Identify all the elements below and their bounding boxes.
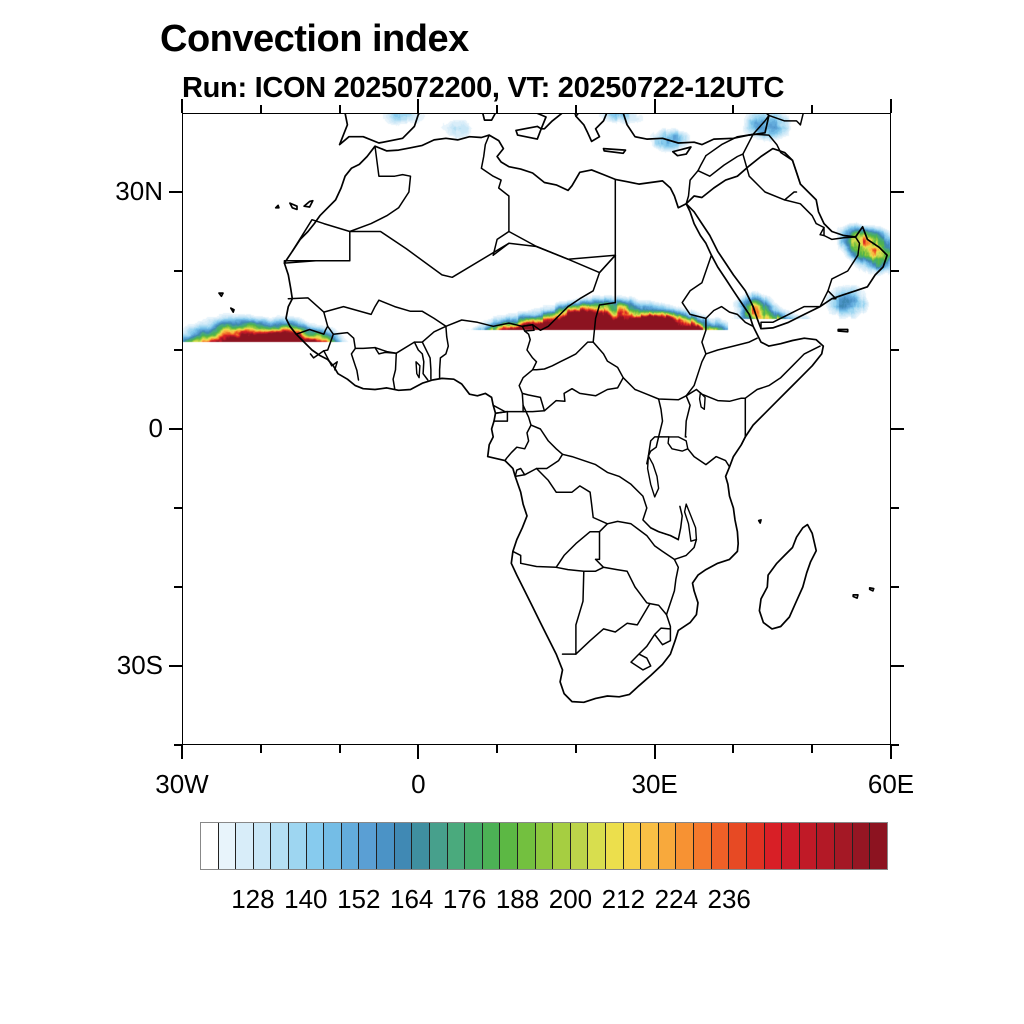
x-major-tick — [181, 99, 183, 113]
colorbar-swatch — [853, 823, 871, 869]
colorbar-swatch — [800, 823, 818, 869]
colorbar-swatch — [377, 823, 395, 869]
x-major-tick — [181, 745, 183, 759]
x-major-tick — [890, 99, 892, 113]
x-axis-label: 30W — [112, 769, 252, 800]
x-minor-tick — [339, 745, 341, 753]
x-major-tick — [417, 99, 419, 113]
x-minor-tick — [260, 745, 262, 753]
colorbar-swatch — [835, 823, 853, 869]
x-minor-tick — [732, 745, 734, 753]
colorbar-swatch — [712, 823, 730, 869]
x-major-tick — [654, 99, 656, 113]
colorbar-swatch — [817, 823, 835, 869]
colorbar-swatch — [870, 823, 887, 869]
x-minor-tick — [811, 745, 813, 753]
colorbar-swatch — [465, 823, 483, 869]
colorbar-swatch — [729, 823, 747, 869]
coastline-polygon — [759, 520, 761, 523]
colorbar-swatch — [676, 823, 694, 869]
colorbar-swatch — [236, 823, 254, 869]
y-minor-tick — [174, 349, 182, 351]
colorbar-swatch — [518, 823, 536, 869]
colorbar-swatch — [624, 823, 642, 869]
colorbar-swatch — [412, 823, 430, 869]
colorbar-swatch — [324, 823, 342, 869]
colorbar-swatch — [430, 823, 448, 869]
x-axis-label: 60E — [821, 769, 961, 800]
map-plot-area — [182, 113, 891, 745]
colorbar-swatch — [219, 823, 237, 869]
colorbar-swatch — [747, 823, 765, 869]
x-minor-tick — [575, 745, 577, 753]
colorbar-swatch — [500, 823, 518, 869]
y-minor-tick — [174, 270, 182, 272]
colorbar[interactable] — [200, 822, 888, 870]
colorbar-swatch — [765, 823, 783, 869]
x-minor-tick — [260, 105, 262, 113]
x-major-tick — [654, 745, 656, 759]
y-minor-tick — [891, 507, 899, 509]
map-canvas — [182, 113, 891, 745]
colorbar-swatch — [271, 823, 289, 869]
colorbar-swatch — [782, 823, 800, 869]
colorbar-swatch — [606, 823, 624, 869]
colorbar-swatch — [571, 823, 589, 869]
y-minor-tick — [174, 586, 182, 588]
y-axis-label: 30N — [63, 176, 163, 207]
x-minor-tick — [811, 105, 813, 113]
colorbar-swatch — [359, 823, 377, 869]
colorbar-swatch — [588, 823, 606, 869]
colorbar-swatch — [307, 823, 325, 869]
colorbar-swatch — [641, 823, 659, 869]
colorbar-swatch — [659, 823, 677, 869]
run-valid-time-subtitle: Run: ICON 2025072200, VT: 20250722-12UTC — [182, 72, 784, 105]
y-minor-tick — [891, 744, 899, 746]
y-minor-tick — [891, 270, 899, 272]
x-major-tick — [417, 745, 419, 759]
y-major-tick — [169, 191, 182, 193]
colorbar-swatch — [201, 823, 219, 869]
convection-index-map-figure: Convection index Run: ICON 2025072200, V… — [0, 0, 1024, 1024]
colorbar-swatch — [395, 823, 413, 869]
colorbar-swatch — [289, 823, 307, 869]
y-major-tick — [891, 665, 904, 667]
x-minor-tick — [496, 745, 498, 753]
x-axis-label: 30E — [585, 769, 725, 800]
colorbar-swatch — [553, 823, 571, 869]
y-major-tick — [169, 428, 182, 430]
x-major-tick — [890, 745, 892, 759]
colorbar-swatch — [536, 823, 554, 869]
colorbar-swatch — [483, 823, 501, 869]
colorbar-swatch — [694, 823, 712, 869]
colorbar-swatch — [342, 823, 360, 869]
y-minor-tick — [891, 349, 899, 351]
colorbar-swatch — [448, 823, 466, 869]
colorbar-tick-label: 236 — [669, 884, 789, 915]
y-major-tick — [891, 428, 904, 430]
y-minor-tick — [891, 586, 899, 588]
convection-index-raster — [182, 113, 891, 745]
y-axis-label: 30S — [63, 650, 163, 681]
y-axis-label: 0 — [63, 413, 163, 444]
x-axis-label: 0 — [348, 769, 488, 800]
x-minor-tick — [339, 105, 341, 113]
y-major-tick — [169, 665, 182, 667]
y-major-tick — [891, 191, 904, 193]
x-minor-tick — [496, 105, 498, 113]
x-minor-tick — [575, 105, 577, 113]
colorbar-swatch — [254, 823, 272, 869]
y-minor-tick — [174, 507, 182, 509]
page-title: Convection index — [160, 18, 469, 61]
x-minor-tick — [732, 105, 734, 113]
